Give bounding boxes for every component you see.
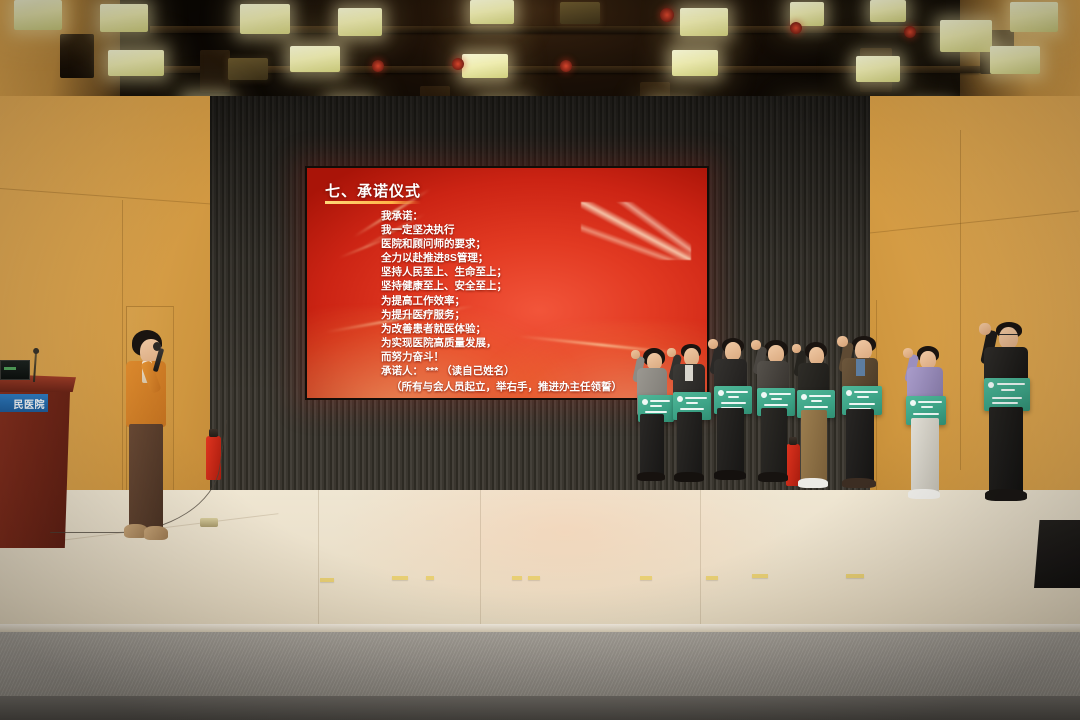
stage-light-12 [108,50,164,76]
floor-cable-connector [200,518,218,527]
participant-8-board-line [992,397,1022,399]
floor-seam-1 [318,490,319,626]
participant-7-board-line [918,401,942,403]
stage-floor-warm-reflection [330,490,800,630]
floor-mark-8 [752,574,768,578]
participant-3-board-logo [718,390,724,396]
slide-body-line: 我承诺： [381,209,507,223]
host-speaker [118,330,178,558]
slide-body-line: 全力以赴推进8S管理； [381,251,507,265]
podium-monitor [0,360,30,380]
participant-4-shoes [758,472,788,482]
participant-5-bottom [801,410,827,480]
participant-7-board-logo [910,400,916,406]
floor-mark-6 [640,576,652,580]
participant-7-board-line [921,406,933,408]
participant-8-board-line [992,402,1018,404]
participant-7-board-line [913,413,939,415]
stage-light-16 [856,56,900,82]
slide-body-line: 而努力奋斗！ [381,350,507,364]
stage-light-15 [672,50,718,76]
stage-light-18 [228,58,268,80]
participant-1-bottom [640,414,664,476]
slide-spark-graphic [581,202,691,260]
participant-6-shoes [842,478,876,488]
participant-4-board-line [769,393,791,395]
floor-mark-1 [320,578,334,582]
participant-2-board-line [686,402,698,404]
stage-light-11 [940,20,992,52]
participant-6-board-logo [846,390,852,396]
participant-2-shoes [674,472,704,482]
slide-body-line: 我一定坚决执行 [381,223,507,237]
participant-3-board-line [728,396,739,398]
participant-8-fist [979,323,991,335]
participant-4-board-line [771,398,782,400]
participant-6-head [855,340,872,360]
slide-signer-line: 承诺人： *** （读自己姓名） [381,363,515,378]
participant-6-board-line [857,396,869,398]
participant-1-board-logo [642,399,648,405]
participant-6 [836,336,890,500]
participant-5-fist [792,344,801,353]
participant-6-board-line [849,403,875,405]
participant-6-board-line [854,391,878,393]
participant-5-board-line [809,395,831,397]
floor-seam-3 [700,490,701,626]
participant-6-shirt [856,359,865,376]
participant-5-board-logo [801,394,807,400]
participant-3-fist [708,339,718,349]
slide-body-line: 为实现医院高质量发展， [381,336,507,350]
participant-1-shoes [637,472,665,481]
slide-body-line: 为改善患者就医体验； [381,322,507,336]
house-floor [0,696,1080,720]
participant-3-board-line [721,402,746,404]
participant-8 [978,322,1040,512]
slide-title: 七、承诺仪式 [325,180,421,201]
participant-8-board-logo [988,382,994,388]
podium-sign: 民医院 [0,394,48,412]
participant-3-shoes [714,470,746,480]
floor-mark-2 [392,576,408,580]
slide-body-line: 为提升医疗服务； [381,308,507,322]
floor-mark-5 [528,576,540,580]
participant-7-bottom [911,418,939,492]
slide-body-line: 坚持人民至上、生命至上； [381,265,507,279]
host-shoe-right [144,526,168,540]
stage-light-6 [560,2,600,24]
slide-body-line: 为提高工作效率； [381,294,507,308]
participant-3-board-line [726,391,748,393]
participant-5 [792,342,840,500]
participant-4-board-logo [761,392,767,398]
participant-6-fist [837,336,848,347]
stage-light-14 [462,54,508,78]
stage-light-17 [990,46,1040,74]
participant-1-fist [631,350,640,359]
participant-7 [902,346,954,510]
participant-8-board-line [1001,389,1015,391]
host-microphone-head [153,342,161,351]
participant-4-board-line [764,404,788,406]
participant-5-board-line [811,400,822,402]
slide-body-line: 医院和顾问师的要求； [381,237,507,251]
rig-indicator-1 [660,8,674,22]
participant-8-shoes [985,489,1027,501]
floor-mark-9 [846,574,864,578]
stage-light-10 [1010,2,1058,32]
floor-mark-3 [426,576,434,580]
participant-2-board-line [685,397,707,399]
participant-2-board-logo [677,396,683,402]
slide-title-underline [325,201,421,204]
stage-monitor-speaker [1034,520,1080,588]
participant-5-shoes [798,478,828,488]
participant-2-fist [667,348,676,357]
stage-light-7 [680,8,728,36]
stage-light-3 [240,4,290,34]
rig-indicator-2 [790,22,802,34]
floor-mark-7 [706,576,718,580]
participant-8-board-line [997,383,1025,385]
stage-light-5 [470,0,514,24]
stage-light-9 [870,0,906,22]
participant-7-fist [903,348,913,358]
lamp-housing-b [200,50,230,92]
stage-light-4 [338,8,382,36]
slide-instruction-line: （所有与会人员起立，举右手，推进办主任领誓） [391,379,622,394]
participant-4-fist [751,340,761,350]
stage-front-apron [0,632,1080,698]
rig-indicator-6 [560,60,572,72]
rig-indicator-3 [904,26,916,38]
floor-seam-2 [480,490,481,626]
slide-body: 我承诺：我一定坚决执行医院和顾问师的要求；全力以赴推进8S管理；坚持人民至上、生… [381,209,507,364]
rig-indicator-5 [452,58,464,70]
floor-mark-4 [512,576,522,580]
wall-seam-right-2 [960,130,961,470]
participant-2-shirt [685,365,693,381]
participant-7-shoes [908,489,940,499]
participant-1-board-line [650,400,670,402]
stage-photo-scene: 七、承诺仪式 我承诺：我一定坚决执行医院和顾问师的要求；全力以赴推进8S管理；坚… [0,0,1080,720]
participant-3 [708,338,758,490]
participant-8-bottom [989,407,1023,493]
stage-light-1 [14,0,62,30]
participant-2-bottom [677,412,702,476]
participant-5-board-line [804,406,828,408]
participant-4-bottom [761,408,787,476]
participant-1-board-line [645,411,667,413]
stage-light-13 [290,46,340,72]
slide-body-line: 坚持健康至上、安全至上； [381,279,507,293]
participant-1-board-line [650,405,662,407]
participant-8-glasses [999,334,1018,339]
stage-light-2 [100,4,148,32]
participant-6-bottom [846,409,874,481]
participant-3-bottom [717,408,744,474]
participant-2-board-line [680,408,704,410]
rig-indicator-4 [372,60,384,72]
lamp-housing-a [60,34,94,78]
host-trousers [129,424,163,528]
